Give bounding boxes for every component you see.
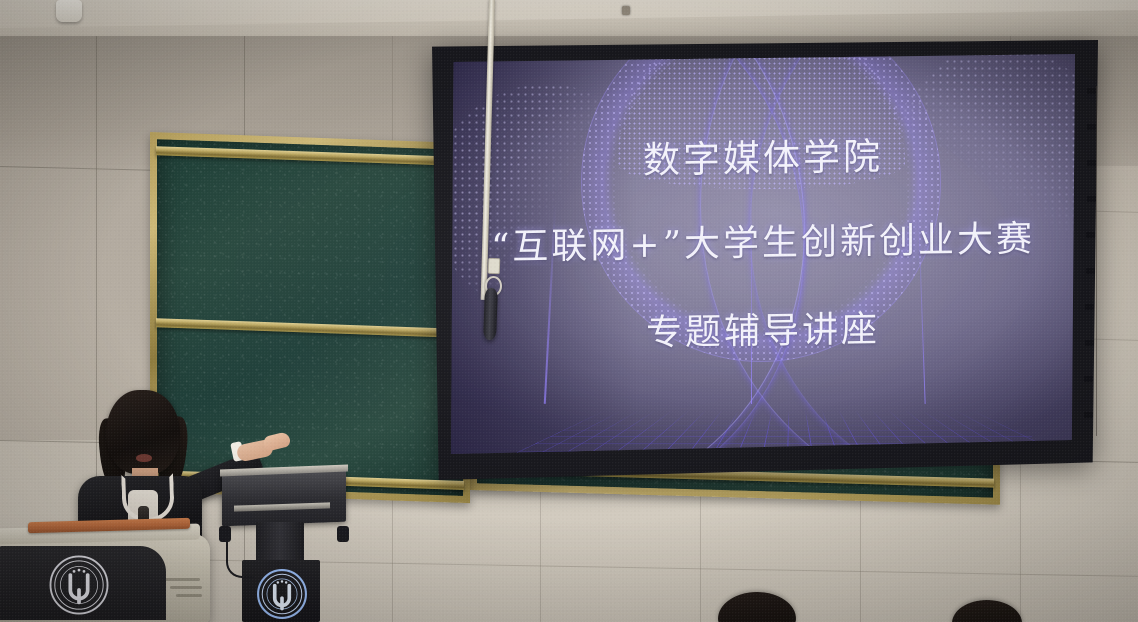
- ceiling-sensor: [56, 0, 82, 22]
- slide-line-3: 专题辅导讲座: [451, 297, 1075, 359]
- screen-tension-tab: [1084, 376, 1093, 382]
- lectern-vent: [162, 578, 200, 581]
- monitor-foot: [337, 526, 349, 542]
- university-logo-icon: [48, 554, 110, 616]
- lectern-front-panel: [0, 546, 166, 620]
- screen-tension-tab: [1086, 268, 1095, 274]
- monitor-cable: [226, 536, 254, 578]
- screen-tension-tab: [1087, 124, 1096, 130]
- screen-tension-tab: [1086, 232, 1095, 238]
- lectern-vent: [170, 586, 202, 589]
- university-logo-icon: [256, 568, 308, 620]
- screen-tension-tab: [1087, 88, 1096, 94]
- slide-line-1: 数字媒体学院: [451, 123, 1075, 187]
- screen-surface: 数字媒体学院 “互联网+”大学生创新创业大赛 专题辅导讲座: [451, 54, 1075, 454]
- lecture-hall-photo: 数字媒体学院 “互联网+”大学生创新创业大赛 专题辅导讲座: [0, 0, 1138, 622]
- screen-tension-wire: [1096, 86, 1097, 436]
- strap-buckle: [488, 258, 501, 274]
- lectern-vent: [176, 594, 202, 597]
- monitor-arm: [256, 522, 304, 562]
- monitor-back: [222, 470, 346, 527]
- screen-tension-tab: [1087, 196, 1096, 202]
- screen-tension-tab: [1087, 160, 1096, 166]
- projection-screen[interactable]: 数字媒体学院 “互联网+”大学生创新创业大赛 专题辅导讲座: [432, 40, 1098, 480]
- screen-tension-tab: [1084, 412, 1093, 418]
- slide-line-2: “互联网+”大学生创新创业大赛: [451, 209, 1075, 271]
- screen-tension-tab: [1085, 304, 1094, 310]
- strap-handle[interactable]: [483, 288, 498, 340]
- screen-tension-tab: [1085, 340, 1094, 346]
- slide-text-block: 数字媒体学院 “互联网+”大学生创新创业大赛 专题辅导讲座: [451, 54, 1075, 454]
- lectern: [0, 520, 210, 622]
- ceiling-mount-screw-icon: [622, 6, 630, 15]
- podium-monitor[interactable]: [216, 466, 352, 622]
- presenter-mouth: [136, 454, 152, 462]
